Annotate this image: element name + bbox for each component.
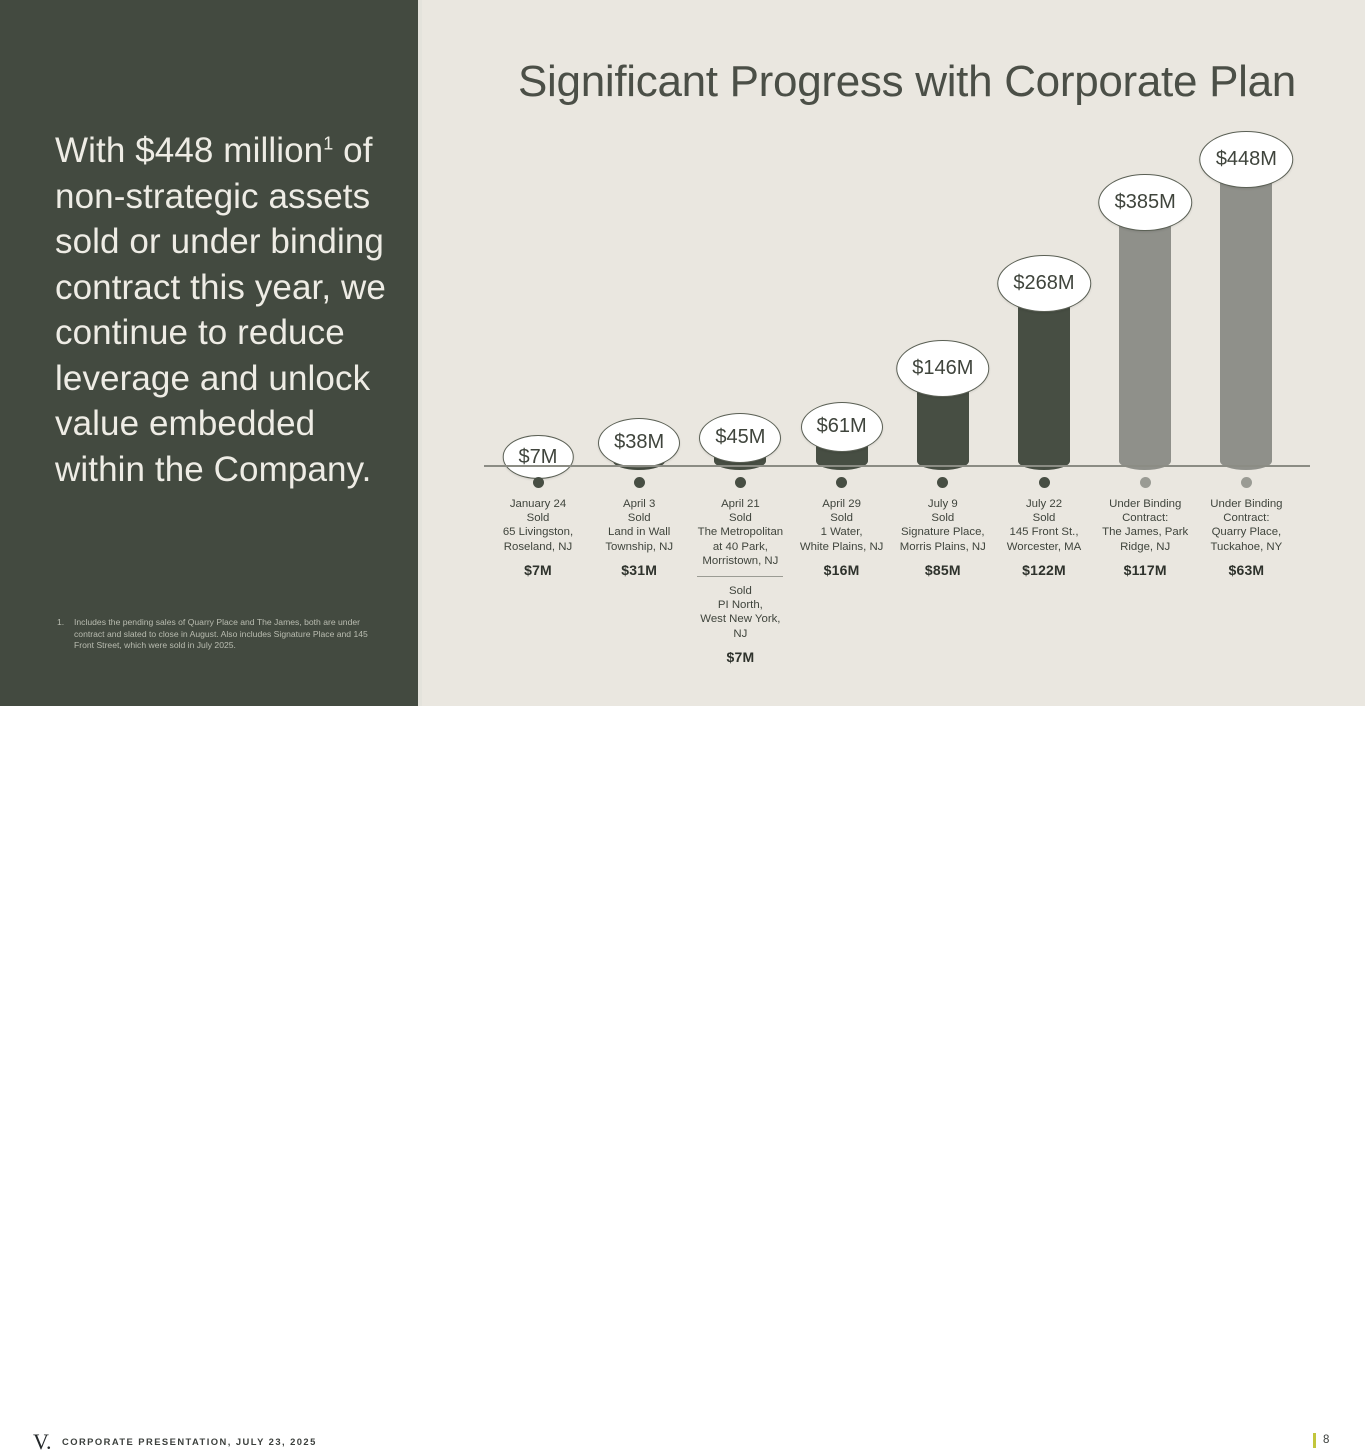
asset-amount: $63M [1187,562,1305,578]
bar-4: $61M [816,110,868,470]
bar-value-bubble: $146M [896,340,990,397]
footnote: 1. Includes the pending sales of Quarry … [57,617,382,652]
footer-caption: CORPORATE PRESENTATION, JULY 23, 2025 [62,1436,317,1447]
bar-value-bubble: $268M [997,255,1091,312]
x-label-column-8: Under BindingContract:Quarry Place,Tucka… [1187,474,1305,578]
axis-dot-marker [634,477,645,488]
bar-1: $7M [512,110,564,470]
chart-x-axis-labels: January 24Sold65 Livingston,Roseland, NJ… [484,474,1312,704]
bar-value-bubble: $45M [699,413,781,463]
bar-value-bubble: $385M [1098,174,1192,231]
page-accent-bar [1313,1433,1316,1448]
footnote-marker: 1 [323,133,333,153]
company-logo: V. [33,1429,52,1455]
bar-7: $385M [1119,110,1171,470]
axis-dot-marker [1039,477,1050,488]
bar-value-bubble: $38M [598,418,680,468]
bar-3: $45M [714,110,766,470]
secondary-asset-divider [697,576,783,577]
presentation-slide: With $448 million1 of non-strategic asse… [0,0,1365,768]
page-number: 8 [1323,1434,1329,1446]
lead-statement-part2: of non-strategic assets sold or under bi… [55,131,386,489]
page-title: Significant Progress with Corporate Plan [518,57,1318,107]
axis-dot-marker [937,477,948,488]
asset-description: Under BindingContract:Quarry Place,Tucka… [1187,497,1305,554]
bar-2: $38M [613,110,665,470]
slide-body: With $448 million1 of non-strategic asse… [0,0,1365,706]
bar-value-bubble: $7M [503,435,574,478]
bar-value-bubble: $61M [801,402,883,452]
slide-footer: V. CORPORATE PRESENTATION, JULY 23, 2025… [0,706,1365,768]
chart-baseline [484,465,1310,467]
lead-statement-part1: With $448 million [55,131,323,170]
axis-dot-marker [836,477,847,488]
lead-statement: With $448 million1 of non-strategic asse… [55,128,395,492]
footnote-text: Includes the pending sales of Quarry Pla… [74,617,382,652]
bar-cylinder [1220,160,1272,470]
secondary-asset-description: SoldPI North,West New York,NJ [681,584,799,641]
bar-cylinder [1119,204,1171,470]
footnote-number: 1. [57,617,64,629]
bar-6: $268M [1018,110,1070,470]
secondary-asset-amount: $7M [681,649,799,665]
bar-chart: $7M$38M$45M$61M$146M$268M$385M$448M [484,110,1312,470]
bar-5: $146M [917,110,969,470]
bar-8: $448M [1220,110,1272,470]
axis-dot-marker [1241,477,1252,488]
axis-dot-marker [735,477,746,488]
panel-edge-divider [418,0,422,706]
bar-cylinder [1018,285,1070,470]
axis-dot-marker [1140,477,1151,488]
axis-dot-marker [533,477,544,488]
bar-value-bubble: $448M [1200,131,1294,188]
